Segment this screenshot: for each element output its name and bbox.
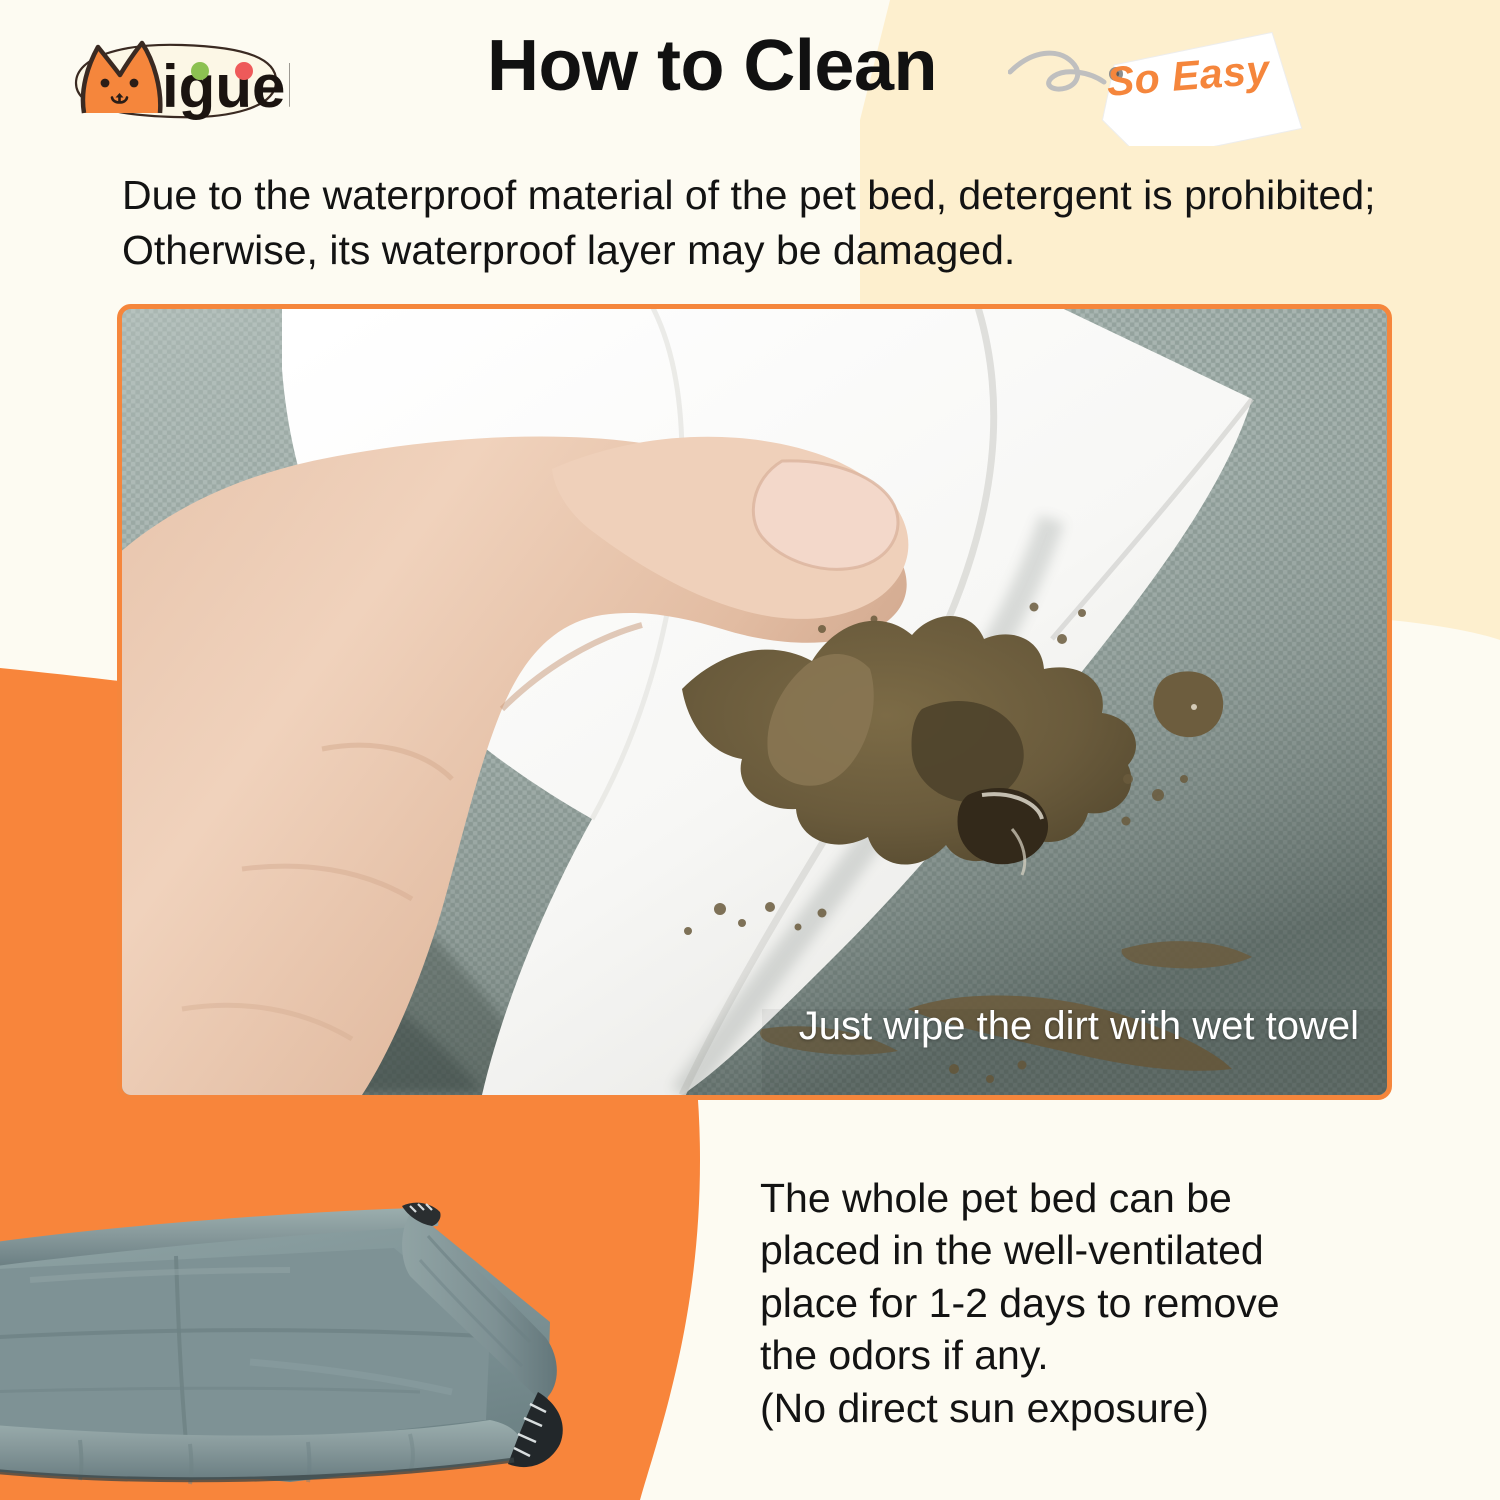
outro-line-4: the odors if any. [760,1329,1420,1381]
infographic-page: iguel How to Clean So Easy Due to the wa… [0,0,1500,1500]
cleaning-photo: Just wipe the dirt with wet towel [117,304,1392,1100]
cleaning-photo-image [122,309,1387,1095]
pet-bed-image [0,1152,680,1500]
outro-line-3: place for 1-2 days to remove [760,1277,1420,1329]
intro-paragraph: Due to the waterproof material of the pe… [122,168,1412,279]
outro-line-5: (No direct sun exposure) [760,1382,1420,1434]
outro-line-1: The whole pet bed can be [760,1172,1420,1224]
page-title-text: How to Clean [487,30,937,102]
photo-caption: Just wipe the dirt with wet towel [799,1004,1359,1049]
outro-paragraph: The whole pet bed can be placed in the w… [760,1172,1420,1434]
outro-line-2: placed in the well-ventilated [760,1224,1420,1276]
pet-bed-photo [0,1152,680,1500]
